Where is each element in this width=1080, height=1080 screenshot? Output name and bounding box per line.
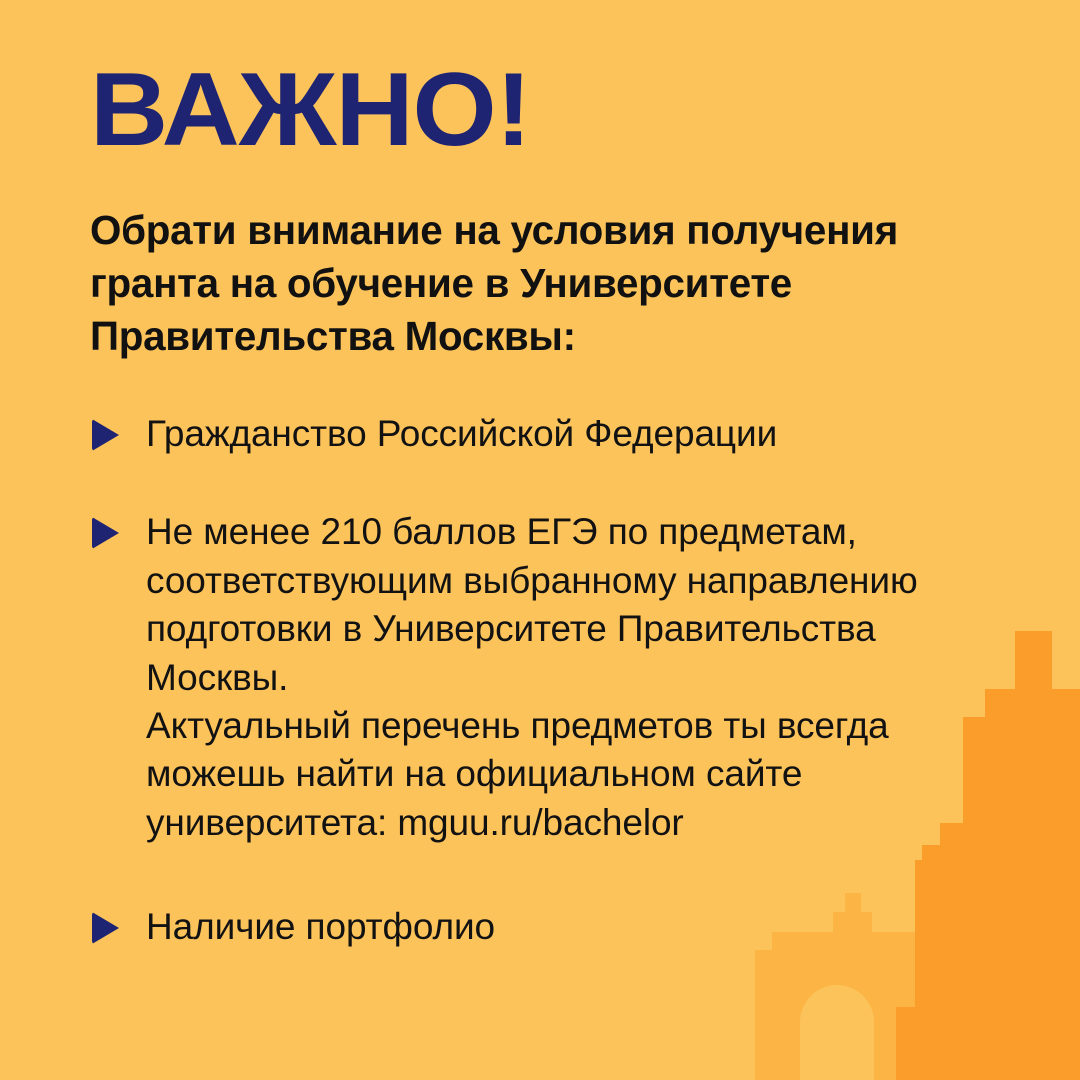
poster-content: ВАЖНО! Обрати внимание на условия получе…	[90, 0, 1020, 952]
subheading: Обрати внимание на условия получения гра…	[90, 160, 1006, 364]
triangle-right-icon	[92, 912, 119, 944]
triangle-right-icon	[92, 517, 119, 549]
list-item-label: Наличие портфолио	[146, 903, 1020, 951]
triangle-right-icon	[92, 419, 119, 451]
list-item: Гражданство Российской Федерации	[90, 410, 1020, 458]
list-item: Не менее 210 баллов ЕГЭ по предметам, со…	[90, 508, 1020, 847]
poster-canvas: ВАЖНО! Обрати внимание на условия получе…	[0, 0, 1080, 1080]
page-title: ВАЖНО!	[90, 0, 1057, 160]
list-item-label: Не менее 210 баллов ЕГЭ по предметам, со…	[146, 508, 1020, 847]
list-item-label: Гражданство Российской Федерации	[146, 410, 1020, 458]
conditions-list: Гражданство Российской Федерации Не мене…	[90, 364, 1020, 952]
list-item: Наличие портфолио	[90, 903, 1020, 951]
